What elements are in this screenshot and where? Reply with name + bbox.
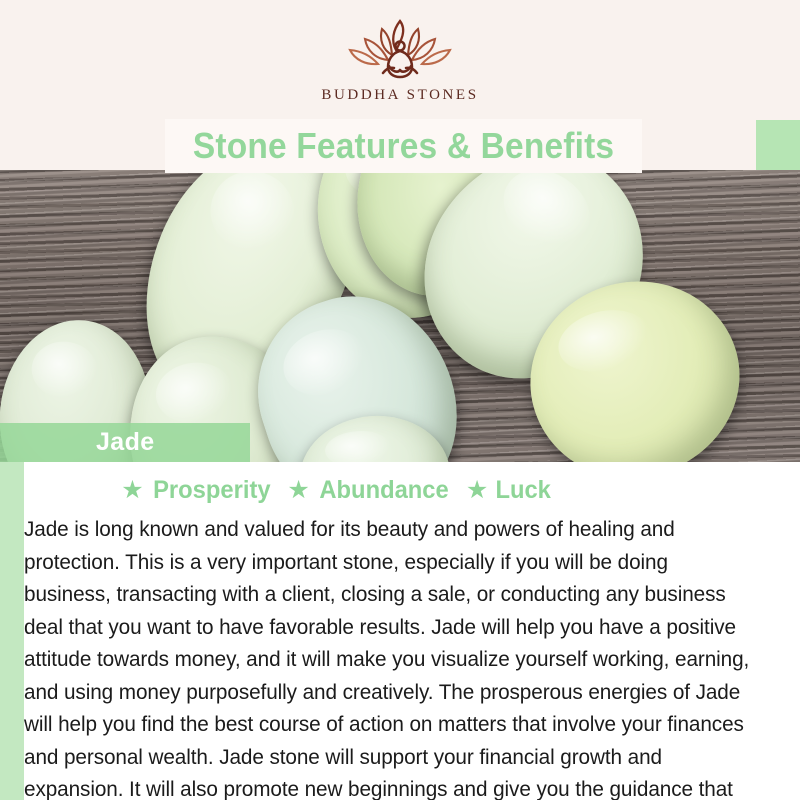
poster-root: BUDDHA STONES Stone Features & Benefits … <box>0 0 800 800</box>
content-area: ★ Prosperity ★ Abundance ★ Luck Jade is … <box>24 462 800 800</box>
description-text: Jade is long known and valued for its be… <box>24 513 773 800</box>
benefit-item: ★ Prosperity <box>121 476 273 505</box>
page-title: Stone Features & Benefits <box>193 125 614 167</box>
star-icon: ★ <box>287 478 309 503</box>
accent-bar-bottom-pad <box>0 750 24 764</box>
benefit-item: ★ Abundance <box>287 476 452 505</box>
hero-photo <box>0 170 800 462</box>
benefit-label: Abundance <box>319 476 448 505</box>
accent-bar-left-lower <box>0 462 24 782</box>
benefit-label: Luck <box>496 476 551 505</box>
stone-name-label: Jade <box>96 428 155 457</box>
benefits-row: ★ Prosperity ★ Abundance ★ Luck <box>24 462 800 505</box>
star-icon: ★ <box>466 478 488 503</box>
star-icon: ★ <box>121 478 143 503</box>
benefit-label: Prosperity <box>153 476 270 505</box>
brand-header: BUDDHA STONES <box>0 0 800 120</box>
lotus-meditation-icon <box>340 17 460 83</box>
title-banner: Stone Features & Benefits <box>165 119 642 173</box>
benefit-item: ★ Luck <box>466 476 553 505</box>
brand-name: BUDDHA STONES <box>321 87 478 104</box>
stone-name-band: Jade <box>0 423 250 462</box>
